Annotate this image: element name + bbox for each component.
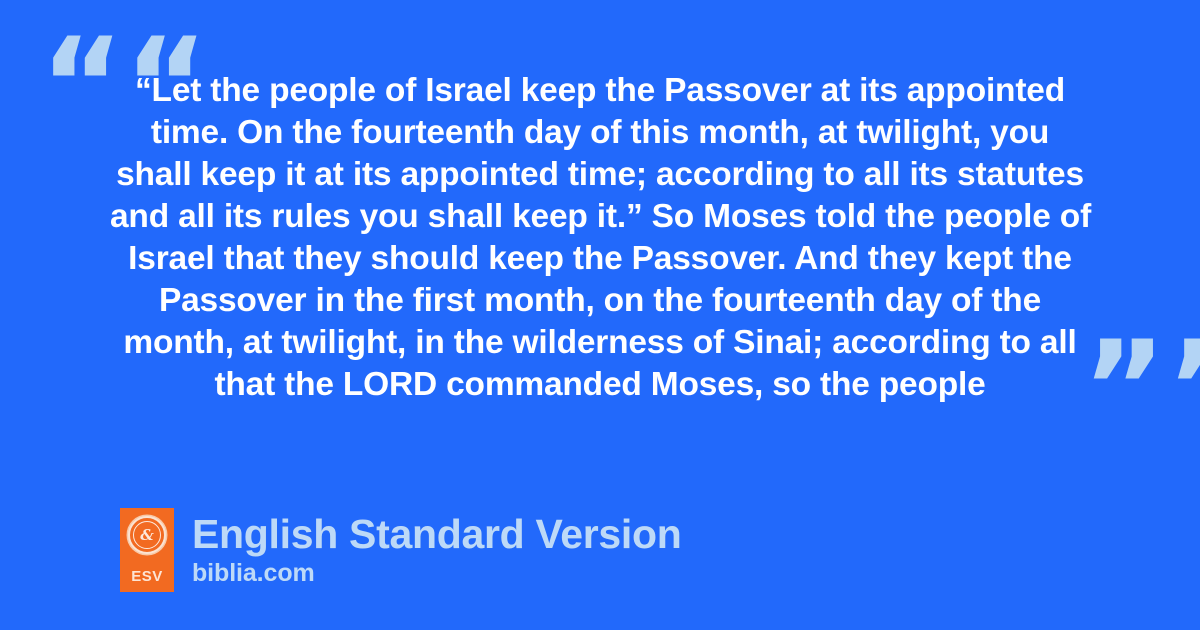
verse-image-card: ““ “Let the people of Israel keep the Pa… [0,0,1200,630]
verse-line: month, at twilight, in the wilderness of… [110,322,1090,364]
site-url[interactable]: biblia.com [192,558,681,588]
verse-line: and all its rules you shall keep it.” So… [110,196,1090,238]
attribution-text: English Standard Version biblia.com [192,508,681,588]
bible-version-name: English Standard Version [192,510,681,558]
attribution: & ESV English Standard Version biblia.co… [120,508,681,592]
esv-seal-monogram: & [140,528,154,543]
verse-text-block: “Let the people of Israel keep the Passo… [110,70,1090,406]
verse-line: “Let the people of Israel keep the Passo… [110,70,1090,112]
verse-line: time. On the fourteenth day of this mont… [110,112,1090,154]
esv-logo-label: ESV [131,569,163,584]
verse-line: that the LORD commanded Moses, so the pe… [110,364,1090,406]
verse-line: Israel that they should keep the Passove… [110,238,1090,280]
close-quote-icon: ”” [1082,325,1200,453]
esv-seal-icon: & [128,516,166,554]
verse-line: Passover in the first month, on the four… [110,280,1090,322]
esv-logo: & ESV [120,508,174,592]
verse-line: shall keep it at its appointed time; acc… [110,154,1090,196]
